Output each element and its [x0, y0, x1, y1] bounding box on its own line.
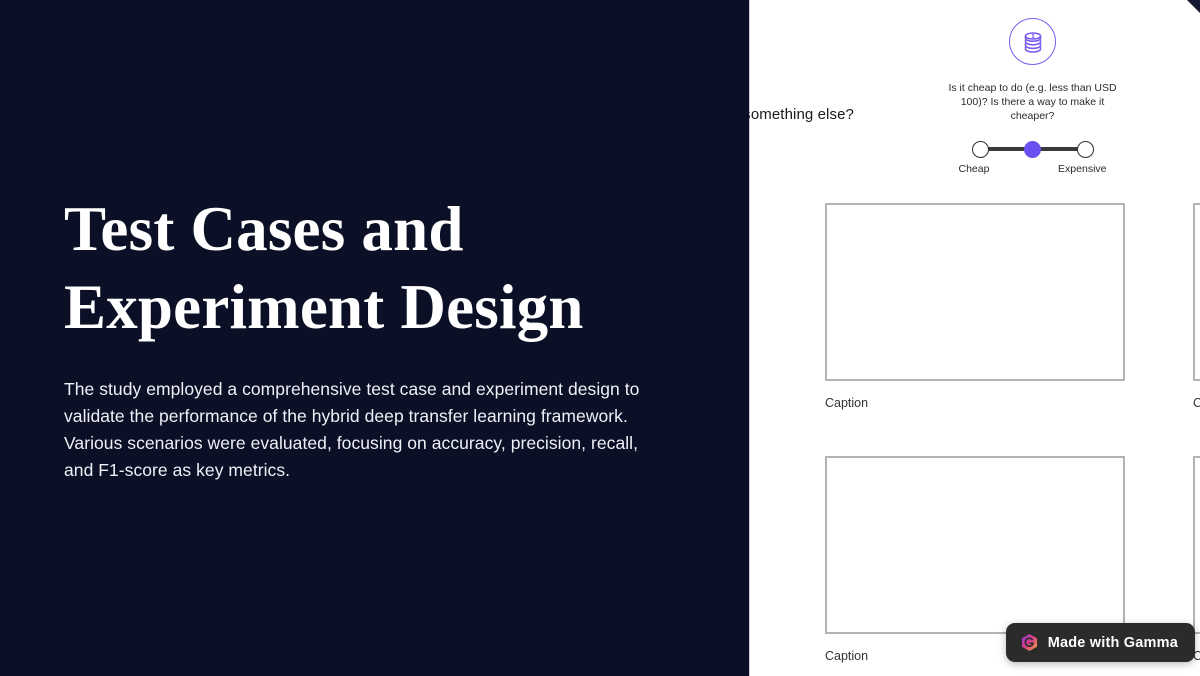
image-placeholder-frame[interactable] — [1193, 456, 1200, 634]
page-title-line-2: Experiment Design — [64, 268, 684, 346]
image-caption[interactable]: Caption — [825, 396, 1125, 410]
image-placeholder-frame[interactable] — [825, 456, 1125, 634]
image-caption[interactable]: Caption — [1193, 396, 1200, 410]
presentation-screen: on, or something else? ent. $ Is it chea… — [0, 0, 1200, 676]
gamma-logo-icon — [1020, 633, 1039, 652]
criteria-description: Is it cheap to do (e.g. less than USD 10… — [944, 81, 1122, 123]
svg-text:$: $ — [1031, 33, 1034, 39]
media-block[interactable]: Caption — [1193, 203, 1200, 410]
page-title: Test Cases and Experiment Design — [64, 190, 684, 346]
slider-node-3[interactable] — [1077, 141, 1094, 158]
slider-node-1[interactable] — [972, 141, 989, 158]
media-block[interactable]: Caption — [825, 203, 1125, 410]
criteria-card-row: $ Is it cheap to do (e.g. less than USD … — [930, 18, 1200, 175]
image-placeholder-frame[interactable] — [1193, 203, 1200, 381]
cost-slider[interactable] — [972, 140, 1094, 158]
gamma-badge-label: Made with Gamma — [1048, 635, 1178, 651]
title-slide-content: Test Cases and Experiment Design The stu… — [64, 190, 684, 484]
coin-stack-icon: $ — [1009, 18, 1056, 65]
cost-slider-labels: Cheap Expensive — [959, 163, 1107, 175]
media-placeholder-column-clipped: Caption Caption — [1193, 203, 1200, 663]
slider-label-right: Expensive — [1058, 163, 1106, 175]
slider-node-2-selected[interactable] — [1024, 141, 1041, 158]
slide-body-text: The study employed a comprehensive test … — [64, 376, 670, 484]
cursor-artifact-icon — [1184, 0, 1200, 13]
media-placeholder-column: Caption Caption — [825, 203, 1125, 663]
made-with-gamma-badge[interactable]: Made with Gamma — [1006, 623, 1195, 662]
title-slide-panel: Test Cases and Experiment Design The stu… — [0, 0, 749, 676]
slider-label-left: Cheap — [959, 163, 990, 175]
criteria-card-cost[interactable]: $ Is it cheap to do (e.g. less than USD … — [930, 18, 1135, 175]
image-placeholder-frame[interactable] — [825, 203, 1125, 381]
page-title-line-1: Test Cases and — [64, 190, 684, 268]
